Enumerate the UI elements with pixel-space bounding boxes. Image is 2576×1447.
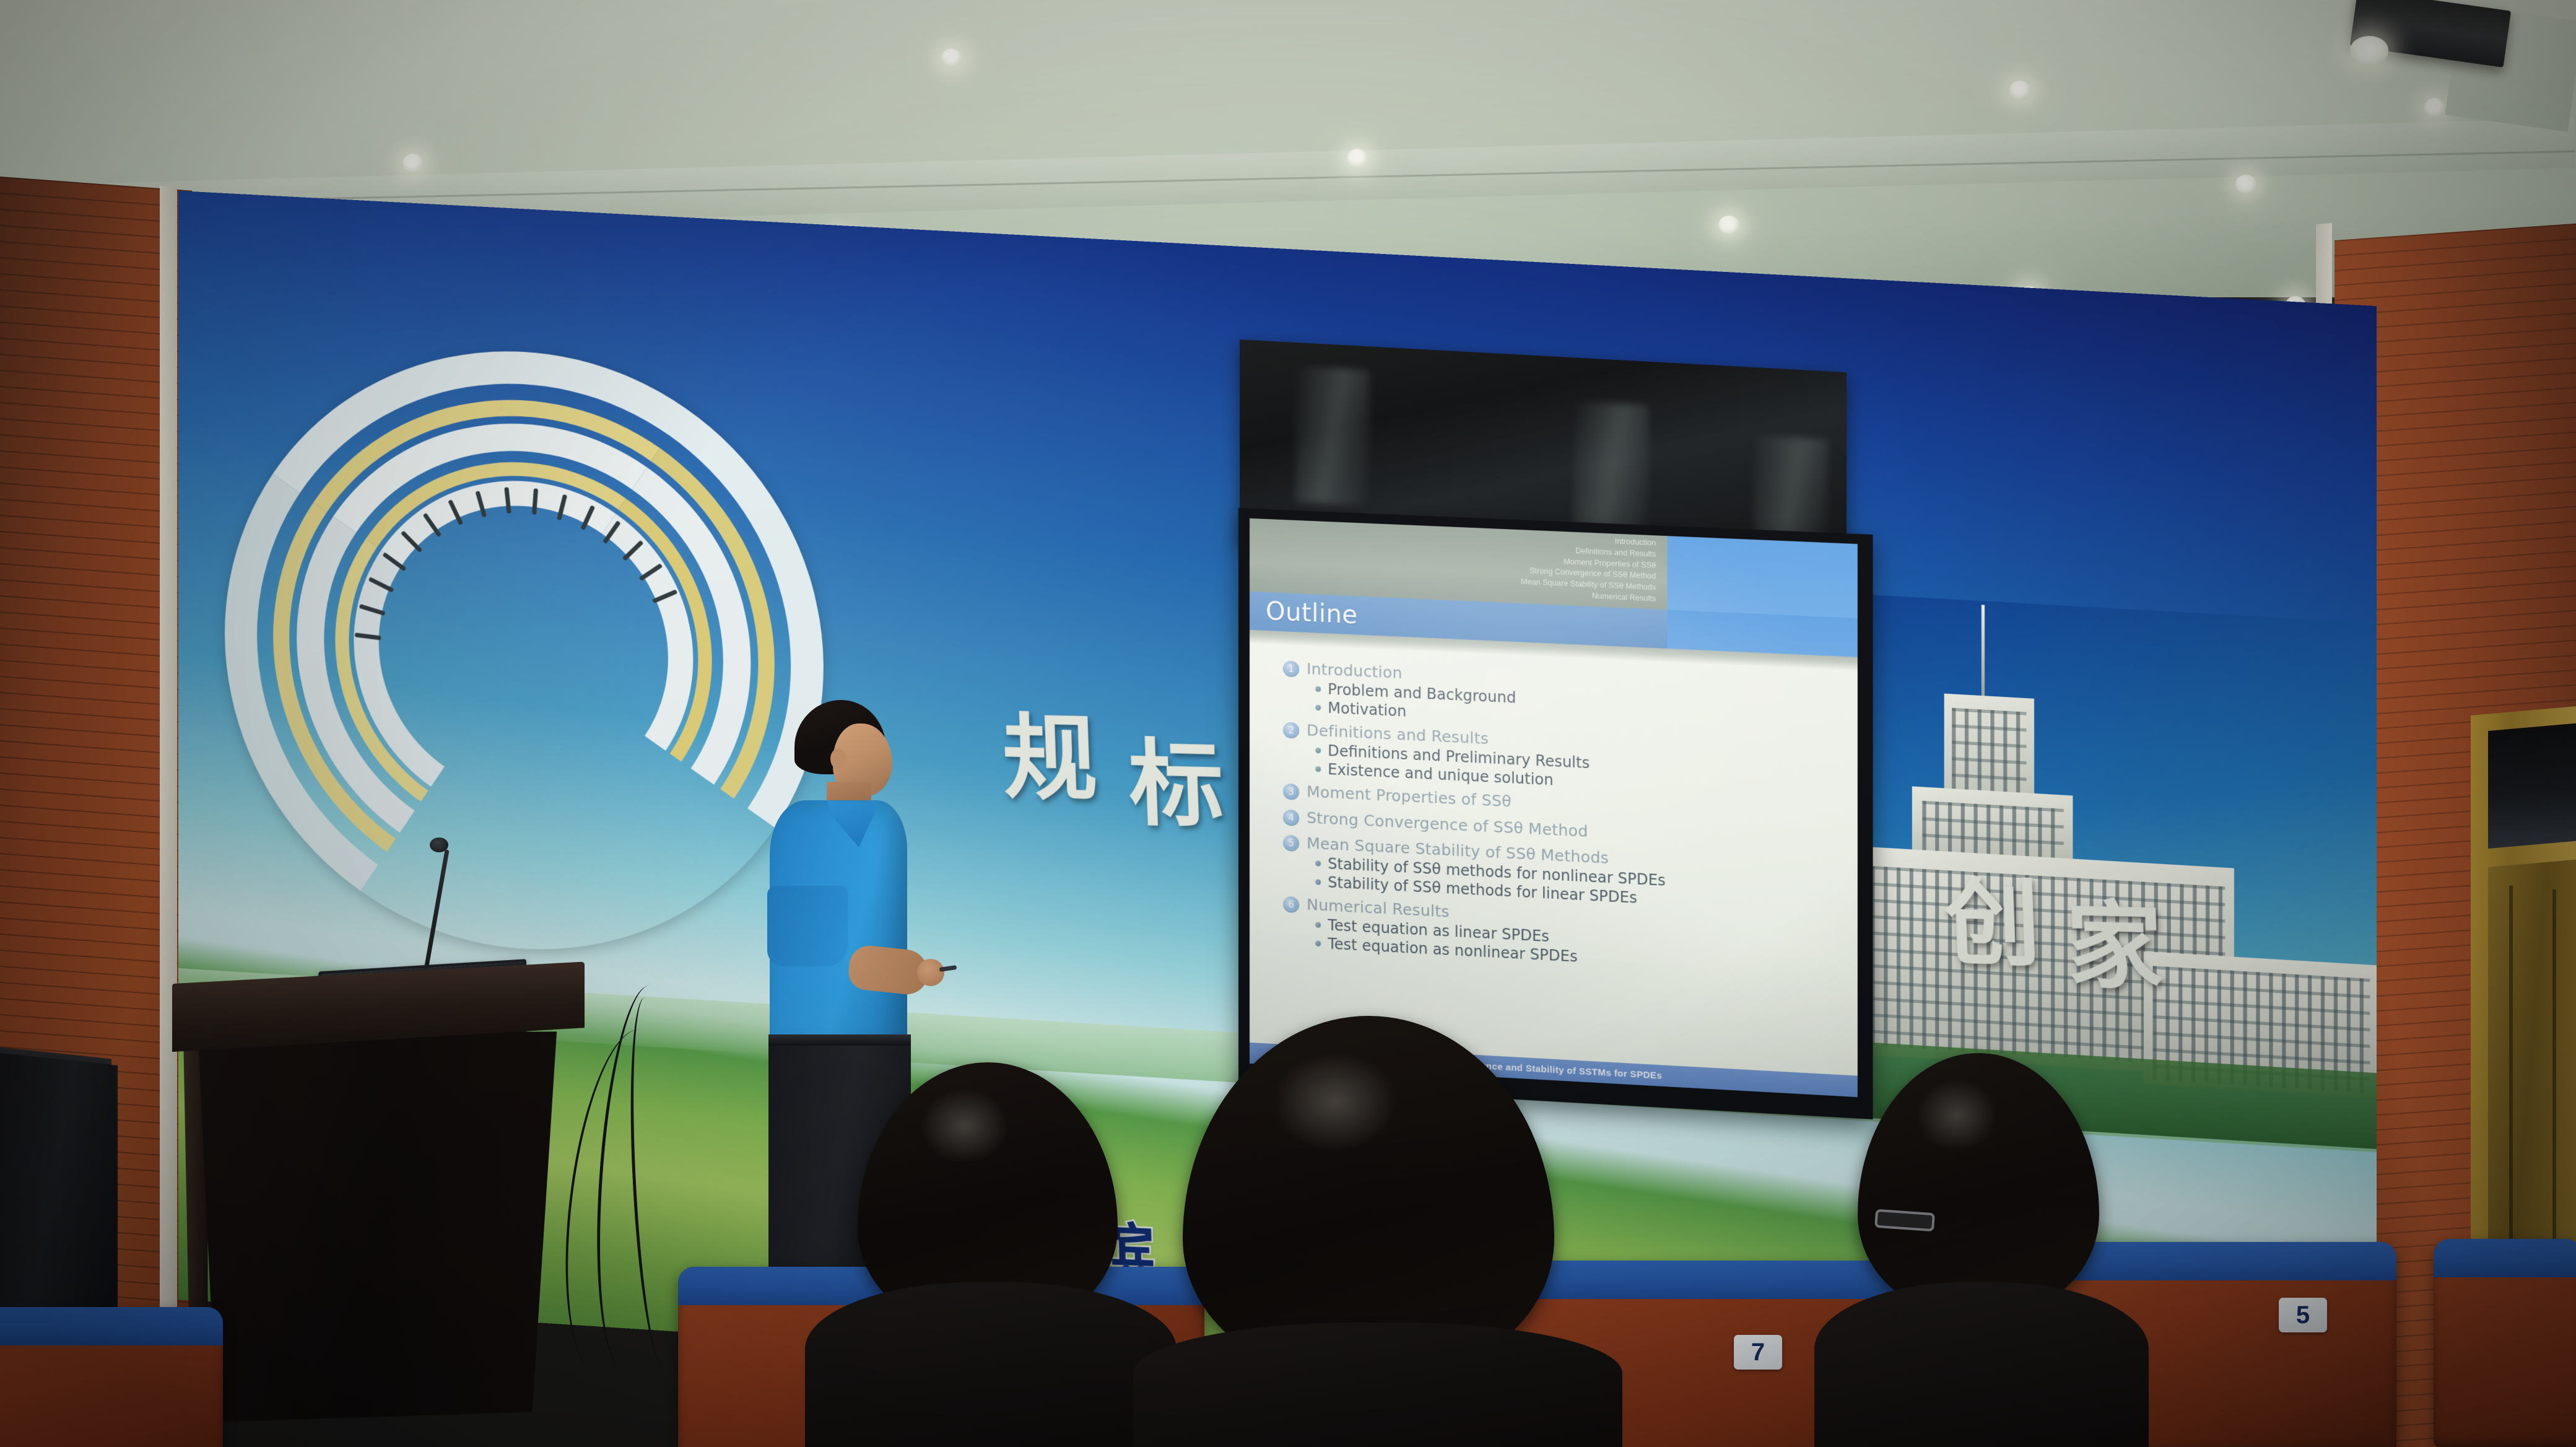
microphone-icon [430, 837, 448, 852]
audience-seat[interactable] [0, 1307, 223, 1447]
bullet-icon [1315, 766, 1321, 772]
audience-shoulders [805, 1282, 1177, 1447]
bullet-icon [1315, 879, 1321, 885]
ceiling-downlight [1347, 149, 1368, 167]
toc-number-badge: 2 [1283, 722, 1299, 738]
banner-char-biao: 标 [1127, 737, 1225, 833]
beamer-slide: Introduction Definitions and Results Mom… [1250, 518, 1858, 1097]
ceiling-downlight [2235, 175, 2256, 193]
seat-number-tag: 5 [2279, 1298, 2327, 1332]
door-groove [2552, 889, 2556, 1274]
bullet-icon [1315, 860, 1321, 866]
door-transom-window [2488, 723, 2576, 849]
speaker-cabinet [0, 1053, 118, 1338]
banner-char-chuang: 创 [1943, 875, 2042, 972]
ceiling-downlight [941, 48, 962, 67]
toc-sub-label: Motivation [1328, 699, 1406, 720]
projector-lens-icon [2350, 36, 2388, 64]
bullet-icon [1315, 922, 1321, 927]
ceiling-downlight [1718, 216, 1739, 234]
door-groove [2509, 885, 2513, 1270]
toc-number-badge: 4 [1283, 809, 1299, 826]
seat-number-tag: 7 [1734, 1335, 1782, 1370]
audience-shoulders [1814, 1282, 2149, 1447]
toc-number-badge: 6 [1283, 896, 1299, 913]
toc-number-badge: 3 [1283, 784, 1299, 800]
hair-highlight [1916, 1079, 1998, 1152]
seat-headrest-pad [2434, 1239, 2576, 1277]
presenter-ear [830, 748, 846, 769]
seat-headrest-pad [0, 1307, 223, 1345]
toc-section-label: Moment Properties of SSθ [1307, 782, 1512, 811]
beamer-navbar-accent [1668, 536, 1858, 618]
banner-char-jia: 家 [2065, 898, 2165, 995]
projection-screen-surface: Introduction Definitions and Results Mom… [1250, 518, 1858, 1097]
valance-highlight [1295, 366, 1370, 506]
audience-seat[interactable] [2434, 1239, 2576, 1447]
presenter-belt [768, 1034, 911, 1046]
presenter-hand [917, 959, 944, 986]
slide-outline-body: 1 Introduction Problem and Background Mo… [1250, 644, 1858, 1076]
conference-hall-photo: 规 标 创 家 尔滨 工业大学 Introduction Definitions… [0, 0, 2576, 1447]
toc-number-badge: 1 [1283, 660, 1299, 677]
bullet-icon [1315, 686, 1321, 691]
bullet-icon [1315, 940, 1321, 946]
presenter-sleeve [767, 886, 848, 966]
banner-building-photo [1809, 592, 2377, 1149]
banner-char-gui: 规 [1001, 710, 1099, 807]
hair-highlight [1272, 1052, 1398, 1152]
ceiling-downlight [2424, 98, 2445, 116]
bullet-icon [1315, 747, 1321, 753]
audience-shoulders [1133, 1322, 1622, 1447]
bullet-icon [1315, 705, 1321, 710]
toc-section-label: Introduction [1307, 660, 1403, 683]
lectern-podium [172, 973, 585, 1431]
banner-building-spire [1982, 605, 1985, 699]
toc-number-badge: 5 [1283, 835, 1299, 852]
ceiling-downlight [402, 154, 424, 172]
beamer-nav-section-list: Introduction Definitions and Results Mom… [1305, 523, 1656, 605]
podium-front-panel [198, 1031, 557, 1422]
hair-highlight [920, 1089, 1009, 1163]
slide-title: Outline [1250, 597, 1358, 630]
ceiling-downlight [2009, 81, 2030, 99]
